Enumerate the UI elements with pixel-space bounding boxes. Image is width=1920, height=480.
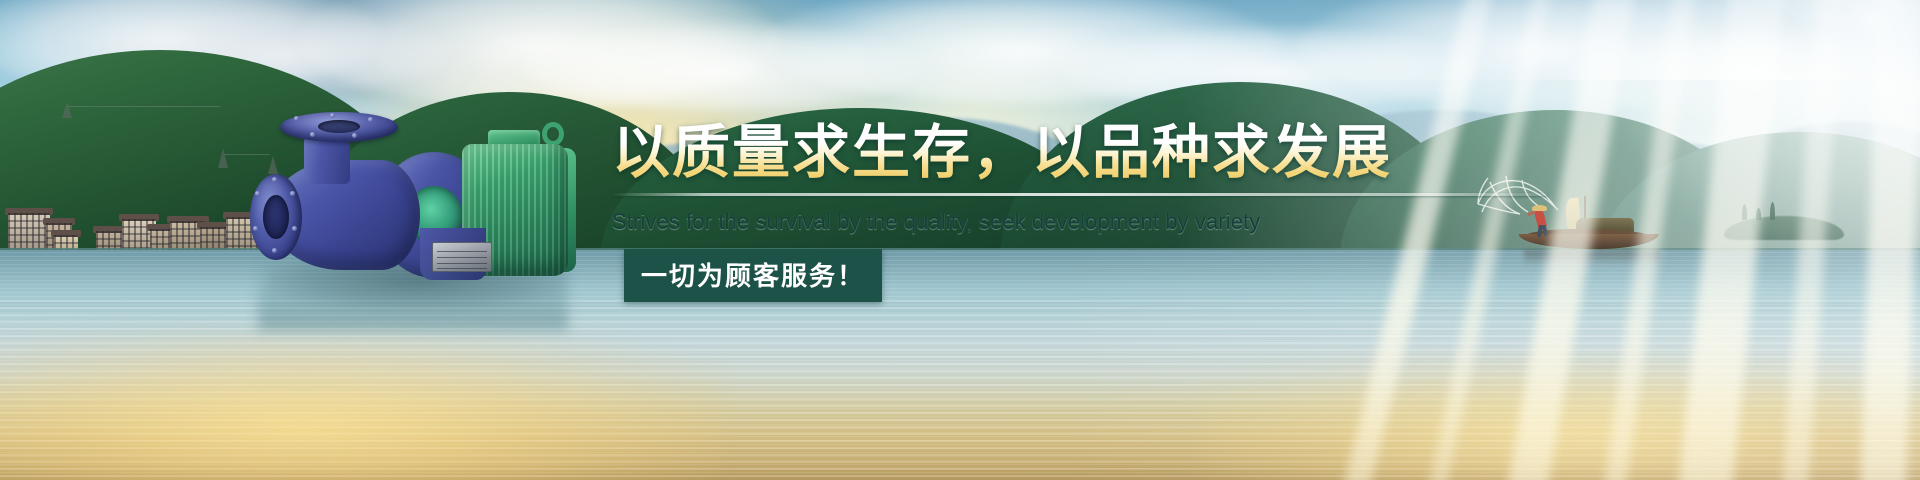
pump-reflection xyxy=(258,258,568,330)
sun-core-glow xyxy=(1560,0,1920,330)
banner-headline: 以质量求生存，以品种求发展 xyxy=(612,122,1612,183)
service-slogan-badge: 一切为顾客服务！ xyxy=(624,249,882,302)
hero-banner: 以质量求生存，以品种求发展 Strives for the survival b… xyxy=(0,0,1920,480)
golden-reflection xyxy=(0,330,720,480)
motor-lifting-eye xyxy=(542,122,564,146)
pump-suction-flange xyxy=(250,174,302,260)
divider-rule xyxy=(612,193,1547,196)
banner-text-block: 以质量求生存，以品种求发展 Strives for the survival b… xyxy=(612,122,1612,302)
pump-discharge-flange xyxy=(280,112,398,142)
banner-subline: Strives for the survival by the quality,… xyxy=(612,209,1612,235)
